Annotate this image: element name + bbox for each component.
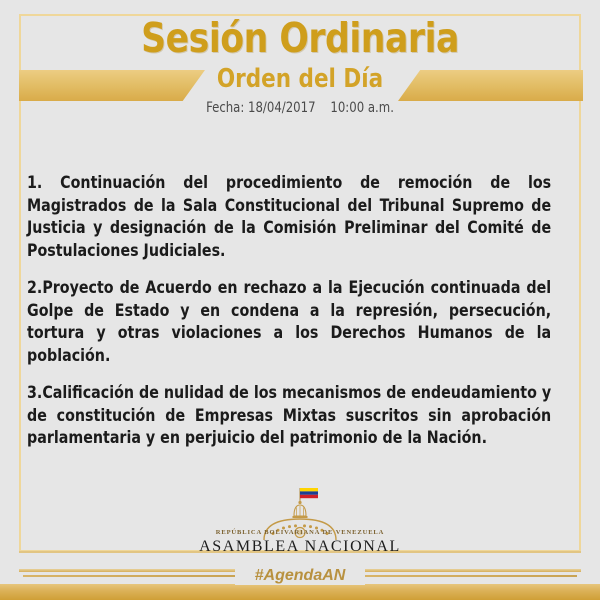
page-subtitle: Orden del Día xyxy=(24,64,576,94)
agenda-item: 3.Calificación de nulidad de los mecanis… xyxy=(27,382,551,450)
agenda-item-text: Proyecto de Acuerdo en rechazo a la Ejec… xyxy=(27,278,551,365)
hashtag-row: #AgendaAN xyxy=(0,566,600,585)
hashtag-label: #AgendaAN xyxy=(235,567,366,585)
hashtag-decoline-right xyxy=(365,575,577,577)
agenda-item: 2.Proyecto de Acuerdo en rechazo a la Ej… xyxy=(27,277,551,367)
institution-label: ASAMBLEA NACIONAL xyxy=(0,538,600,556)
poster-canvas: Sesión Ordinaria Orden del Día Fecha: 18… xyxy=(0,0,600,600)
agenda-list: 1. Continuación del procedimiento de rem… xyxy=(27,172,573,450)
poster-header: Sesión Ordinaria Orden del Día Fecha: 18… xyxy=(0,0,600,130)
agenda-item-number: 1. xyxy=(27,173,42,192)
session-date-time: Fecha: 18/04/2017 10:00 a.m. xyxy=(21,99,579,117)
hashtag-decoline-left xyxy=(23,575,235,577)
agenda-item-text: Continuación del procedimiento de remoci… xyxy=(27,173,551,260)
agenda-item: 1. Continuación del procedimiento de rem… xyxy=(27,172,551,262)
agenda-item-text: Calificación de nulidad de los mecanismo… xyxy=(27,383,551,447)
bottom-gold-bar xyxy=(0,584,600,600)
agenda-item-number: 2. xyxy=(27,278,42,297)
page-title: Sesión Ordinaria xyxy=(18,16,582,60)
agenda-item-number: 3. xyxy=(27,383,42,402)
republic-label: REPÚBLICA BOLIVARIANA DE VENEZUELA xyxy=(0,529,600,536)
footer-rule-primary xyxy=(19,551,581,553)
